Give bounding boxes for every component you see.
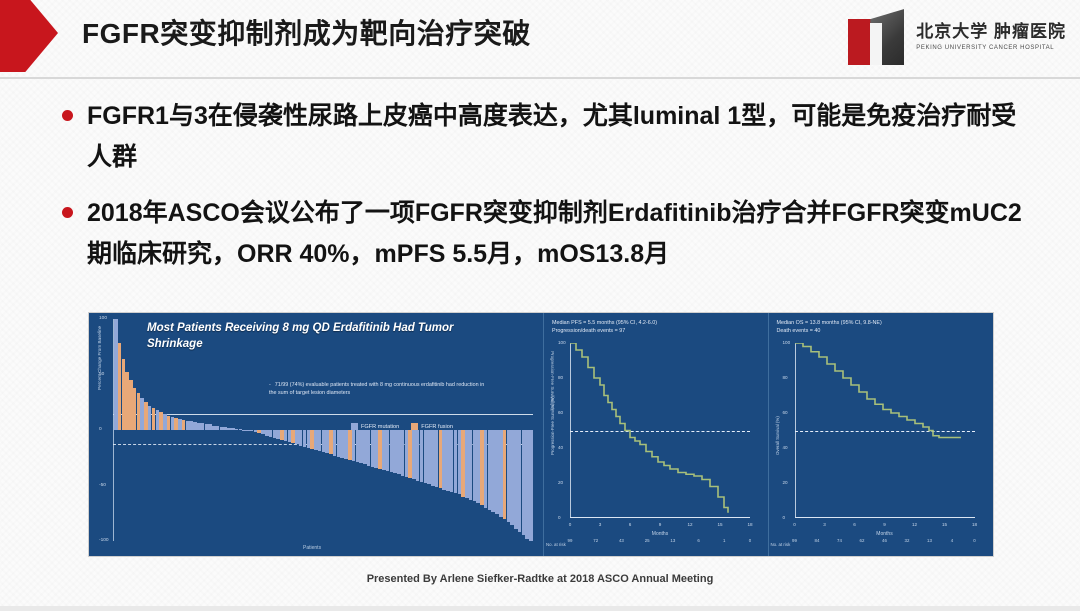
axis-tick-label: 0 [783, 515, 786, 520]
at-risk-count: 6 [697, 538, 699, 543]
bullet-text: FGFR1与3在侵袭性尿路上皮癌中高度表达，尤其luminal 1型，可能是免疫… [87, 96, 1022, 177]
at-risk-count: 99 [568, 538, 573, 543]
page-title: FGFR突变抑制剂成为靶向治疗突破 [82, 12, 531, 52]
axis-tick-label: 100 [558, 340, 566, 345]
logo-text-en: PEKING UNIVERSITY CANCER HOSPITAL [916, 45, 1066, 51]
os-y-axis-label: Overall Survival (%) [775, 416, 780, 455]
pfs-at-risk-row: 9972432513610 [570, 538, 750, 547]
axis-tick-label: 6 [629, 522, 632, 527]
slide-footer: Presented By Arlene Siefker-Radtke at 20… [0, 573, 1080, 585]
axis-tick-label: 80 [558, 375, 563, 380]
at-risk-count: 62 [860, 538, 865, 543]
axis-tick-label: 15 [942, 522, 947, 527]
slide: FGFR突变抑制剂成为靶向治疗突破 北京大学 肿瘤医院 PEKING UNIVE… [0, 0, 1080, 611]
at-risk-count: 43 [619, 538, 624, 543]
axis-tick-label: 3 [823, 522, 826, 527]
waterfall-chart: Most Patients Receiving 8 mg QD Erdafiti… [89, 313, 544, 556]
os-x-axis-label: Months [876, 531, 892, 537]
hospital-logo: 北京大学 肿瘤医院 PEKING UNIVERSITY CANCER HOSPI… [848, 6, 1066, 68]
axis-tick-label: 60 [558, 410, 563, 415]
axis-tick-label: 3 [599, 522, 602, 527]
axis-tick-label: 0 [558, 515, 561, 520]
at-risk-count: 46 [882, 538, 887, 543]
os-title: Median OS = 13.8 months (95% CI, 9.8-NE) [777, 319, 985, 327]
axis-tick-label: 18 [747, 522, 752, 527]
at-risk-count: 99 [792, 538, 797, 543]
axis-tick-label: 40 [783, 445, 788, 450]
at-risk-count: 13 [927, 538, 932, 543]
bullet-text: 2018年ASCO会议公布了一项FGFR突变抑制剂Erdafitinib治疗合并… [87, 193, 1022, 274]
axis-tick-label: 0 [793, 522, 796, 527]
axis-tick-label: 60 [783, 410, 788, 415]
at-risk-count: 72 [593, 538, 598, 543]
bullet-list: FGFR1与3在侵袭性尿路上皮癌中高度表达，尤其luminal 1型，可能是免疫… [62, 96, 1022, 290]
axis-tick-label: 20 [558, 480, 563, 485]
os-at-risk-label: No. at risk [771, 542, 791, 547]
axis-tick-label: 80 [783, 375, 788, 380]
pfs-x-axis-label: Months [652, 531, 668, 537]
axis-tick-label: 9 [883, 522, 886, 527]
logo-mark-icon [848, 9, 908, 65]
axis-tick-label: 0 [569, 522, 572, 527]
at-risk-count: 1 [723, 538, 725, 543]
axis-tick-label: 100 [99, 316, 107, 321]
logo-text-cn: 北京大学 肿瘤医院 [916, 23, 1066, 42]
axis-tick-label: 18 [972, 522, 977, 527]
os-header: Median OS = 13.8 months (95% CI, 9.8-NE)… [777, 319, 985, 336]
waterfall-plot-area: Percent Change From Baseline 100500-50-1… [113, 319, 533, 541]
axis-tick-label: -100 [99, 538, 109, 543]
chart-panel: Most Patients Receiving 8 mg QD Erdafiti… [88, 312, 994, 557]
bottom-divider [0, 606, 1080, 611]
os-subtitle: Death events = 40 [777, 327, 985, 335]
at-risk-count: 4 [951, 538, 953, 543]
pfs-y-axis-label: Progression-Free Survival (%) [550, 396, 555, 455]
slide-header: FGFR突变抑制剂成为靶向治疗突破 北京大学 肿瘤医院 PEKING UNIVE… [0, 0, 1080, 78]
os-chart: Median OS = 13.8 months (95% CI, 9.8-NE)… [769, 313, 994, 556]
pfs-header: Median PFS = 5.5 months (95% CI, 4.2-6.0… [552, 319, 760, 336]
bullet-dot-icon [62, 110, 73, 121]
at-risk-count: 0 [749, 538, 751, 543]
axis-tick-label: 12 [912, 522, 917, 527]
pfs-curve [570, 343, 750, 518]
axis-tick-label: -50 [99, 483, 106, 488]
at-risk-count: 84 [815, 538, 820, 543]
bullet-dot-icon [62, 207, 73, 218]
axis-tick-label: 0 [99, 427, 102, 432]
os-plot-area: Overall Survival (%) Months No. at risk … [795, 343, 975, 518]
axis-tick-label: 40 [558, 445, 563, 450]
red-arrow-decoration [0, 0, 58, 72]
list-item: 2018年ASCO会议公布了一项FGFR突变抑制剂Erdafitinib治疗合并… [62, 193, 1022, 274]
pfs-at-risk-label: No. at risk [546, 542, 566, 547]
at-risk-count: 32 [905, 538, 910, 543]
at-risk-count: 74 [837, 538, 842, 543]
os-curve [795, 343, 975, 518]
axis-tick-label: 15 [717, 522, 722, 527]
at-risk-count: 25 [645, 538, 650, 543]
waterfall-x-axis-label: Patients [303, 545, 321, 551]
at-risk-count: 13 [670, 538, 675, 543]
axis-tick-label: 12 [687, 522, 692, 527]
os-at-risk-row: 9984746246321340 [795, 538, 975, 547]
axis-tick-label: 6 [853, 522, 856, 527]
axis-tick-label: 20 [783, 480, 788, 485]
axis-tick-label: 9 [659, 522, 662, 527]
at-risk-count: 0 [973, 538, 975, 543]
pfs-subtitle: Progression/death events = 97 [552, 327, 760, 335]
pfs-plot-area: Progression-Free Survival (%) Months No.… [570, 343, 750, 518]
axis-tick-label: 50 [99, 372, 104, 377]
list-item: FGFR1与3在侵袭性尿路上皮癌中高度表达，尤其luminal 1型，可能是免疫… [62, 96, 1022, 177]
pfs-title: Median PFS = 5.5 months (95% CI, 4.2-6.0… [552, 319, 760, 327]
waterfall-bars [114, 319, 533, 541]
waterfall-bar [529, 430, 533, 541]
waterfall-y-axis-label: Percent Change From Baseline [97, 326, 102, 390]
header-divider [0, 77, 1080, 79]
axis-tick-label: 100 [783, 340, 791, 345]
pfs-chart: Median PFS = 5.5 months (95% CI, 4.2-6.0… [544, 313, 769, 556]
